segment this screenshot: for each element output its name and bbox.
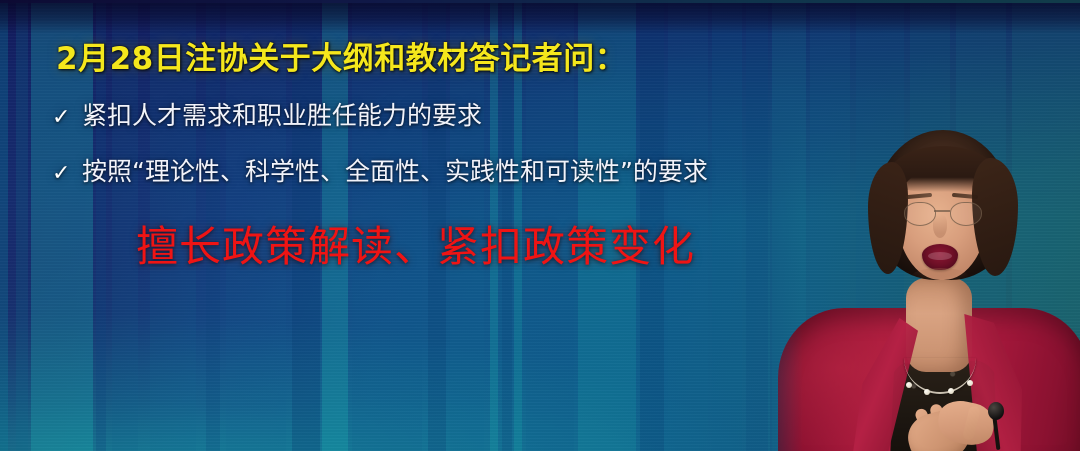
slide-canvas: 2月28日注协关于大纲和教材答记者问： ✓ 紧扣人才需求和职业胜任能力的要求 ✓…: [0, 0, 1080, 451]
bullet-item-2: ✓ 按照“理论性、科学性、全面性、实践性和可读性”的要求: [52, 152, 708, 188]
highlight-text: 擅长政策解读、紧扣政策变化: [136, 213, 695, 274]
glasses-lens-right: [950, 202, 982, 226]
glasses-bridge: [934, 210, 950, 212]
necklace-pearl: [948, 388, 954, 394]
slide-title: 2月28日注协关于大纲和教材答记者问：: [56, 33, 626, 78]
presenter-nose: [933, 214, 947, 238]
presenter-figure: [770, 110, 1080, 451]
check-icon: ✓: [52, 105, 82, 130]
necklace-pearl: [906, 382, 912, 388]
necklace-pearl: [924, 389, 930, 395]
glasses-lens-left: [904, 202, 936, 226]
bullet-item-2-label: 按照“理论性、科学性、全面性、实践性和可读性”的要求: [82, 152, 708, 188]
necklace-pearl: [967, 380, 973, 386]
bullet-item-1-label: 紧扣人才需求和职业胜任能力的要求: [82, 96, 482, 132]
presenter-chin-shadow: [912, 268, 968, 284]
presenter-teeth: [928, 252, 952, 260]
check-icon: ✓: [52, 161, 82, 186]
microphone-icon: [988, 402, 1004, 420]
bullet-item-1: ✓ 紧扣人才需求和职业胜任能力的要求: [52, 96, 482, 132]
